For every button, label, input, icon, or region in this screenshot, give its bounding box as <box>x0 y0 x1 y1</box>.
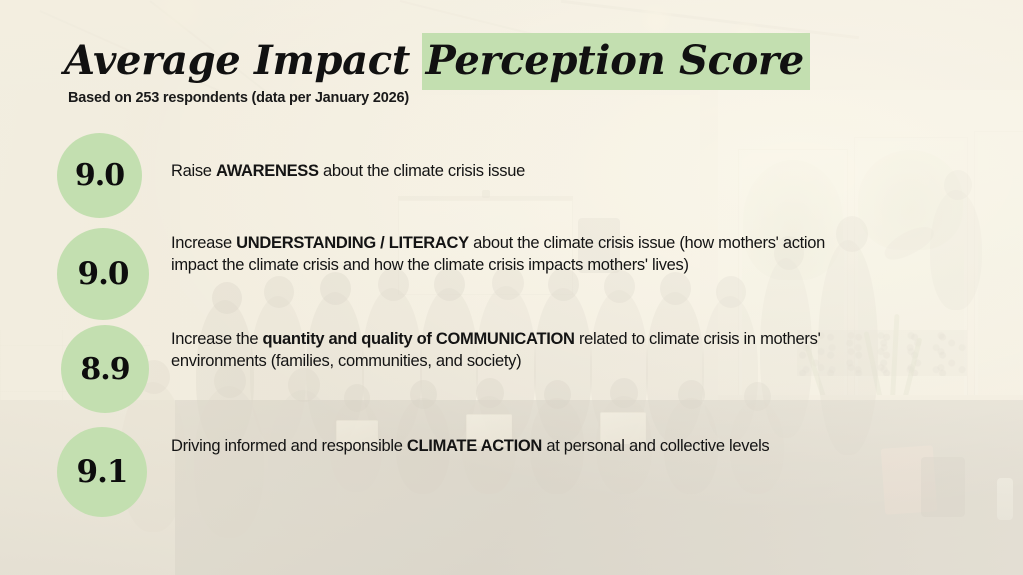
score-description: Increase the quantity and quality of COM… <box>171 328 831 372</box>
title-plain-text: Average Impact <box>64 37 424 84</box>
score-description: Raise AWARENESS about the climate crisis… <box>171 160 821 182</box>
page-title: Average Impact Perception Score <box>64 36 810 86</box>
slide-content: Average Impact Perception Score Based on… <box>0 0 1023 575</box>
score-badge: 9.0 <box>57 228 149 320</box>
score-description: Driving informed and responsible CLIMATE… <box>171 435 831 457</box>
score-badge: 9.1 <box>57 427 147 517</box>
score-badge: 8.9 <box>61 325 149 413</box>
score-badge: 9.0 <box>57 133 142 218</box>
title-highlighted-text: Perception Score <box>422 33 810 90</box>
score-description: Increase UNDERSTANDING / LITERACY about … <box>171 232 831 276</box>
slide: Average Impact Perception Score Based on… <box>0 0 1023 575</box>
subtitle: Based on 253 respondents (data per Janua… <box>68 90 409 106</box>
